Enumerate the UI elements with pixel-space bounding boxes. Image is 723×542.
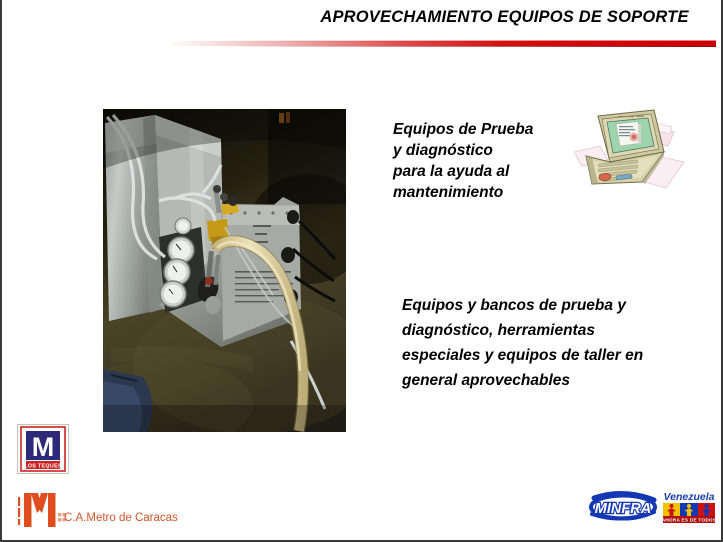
laptop-icon [572,104,686,196]
logo-minfra-artwork: MINFRA [588,490,658,526]
logo-venezuela-artwork: Venezuela AHORA ES DE TODOS [660,488,718,526]
logo-los-teques-artwork: M LOS TEQUES [17,424,69,474]
minfra-wordmark: MINFRA [595,501,651,517]
text-line: y diagnóstico [393,140,583,161]
text-block-equipos-prueba: Equipos de Prueba y diagnóstico para la … [393,119,583,203]
logo-metro-caracas-artwork [16,491,68,531]
title-divider-rule [10,40,716,47]
venezuela-tagline: AHORA ES DE TODOS [662,517,716,522]
text-line: para la ayuda al [393,161,583,182]
logo-venezuela: Venezuela AHORA ES DE TODOS [660,488,718,526]
text-line: Equipos de Prueba [393,119,583,140]
page-title: APROVECHAMIENTO EQUIPOS DE SOPORTE [302,8,707,27]
text-line: Equipos y bancos de prueba y [402,293,692,318]
text-line: general aprovechables [402,368,692,393]
logo-minfra: MINFRA [588,490,658,526]
los-teques-caption: LOS TEQUES [24,463,62,469]
venezuela-wordmark: Venezuela [664,491,715,503]
photo-test-equipment [103,109,346,432]
text-block-equipos-bancos: Equipos y bancos de prueba y diagnóstico… [402,293,692,393]
logo-metro-caracas [16,491,68,531]
photo-artwork [103,109,346,432]
text-line: diagnóstico, herramientas [402,318,692,343]
metro-caracas-label: C.A.Metro de Caracas [64,512,178,524]
los-teques-letter: M [32,432,55,462]
logo-metro-los-teques: M LOS TEQUES [17,424,69,474]
slide-canvas: APROVECHAMIENTO EQUIPOS DE SOPORTE [0,0,723,542]
text-line: especiales y equipos de taller en [402,343,692,368]
text-line: mantenimiento [393,182,583,203]
laptop-artwork [572,104,686,196]
rule-shadow [10,46,716,48]
